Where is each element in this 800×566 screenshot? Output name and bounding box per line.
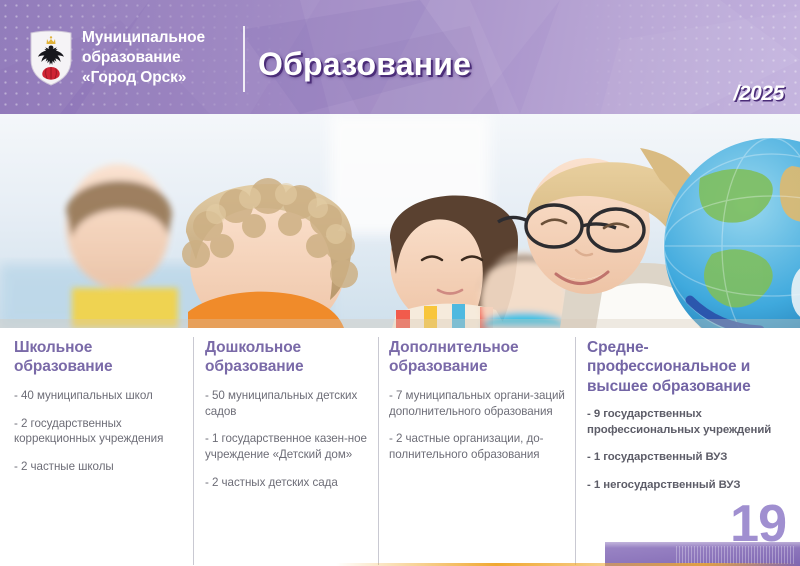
column-heading: Дошкольное образование [205, 338, 368, 377]
column-item: - 2 частные школы [14, 459, 184, 475]
column-item: - 50 муниципальных детских садов [205, 388, 368, 420]
column-item: - 2 частных детских сада [205, 475, 368, 491]
column-item: - 7 муниципальных органи-заций дополните… [389, 388, 565, 420]
column-item: - 1 негосударственный ВУЗ [587, 478, 787, 494]
content-area: Школьное образование - 40 муниципальных … [0, 328, 800, 566]
column-item: - 2 государственных коррекционных учрежд… [14, 416, 184, 448]
column-vocational-higher-education: Средне-профессиональное и высшее образов… [587, 338, 787, 505]
column-heading: Школьное образование [14, 338, 184, 377]
organization-name-line-3: «Город Орск» [82, 68, 234, 88]
organization-name: Муниципальное образование «Город Орск» [82, 28, 234, 87]
year-label: /2025 [733, 82, 784, 106]
column-item: - 2 частные организации, до-полнительног… [389, 431, 565, 463]
column-item: - 9 государственных профессиональных учр… [587, 407, 787, 438]
column-heading: Средне-профессиональное и высшее образов… [587, 338, 787, 396]
organization-name-line-1: Муниципальное [82, 28, 234, 48]
column-divider-1 [193, 337, 194, 565]
column-preschool-education: Дошкольное образование - 50 муниципальны… [205, 338, 368, 503]
column-school-education: Школьное образование - 40 муниципальных … [14, 338, 184, 487]
footer-accent-bar-stripes [676, 546, 794, 564]
column-item: - 1 государственное казен-ное учреждение… [205, 431, 368, 463]
column-item: - 40 муниципальных школ [14, 388, 184, 404]
header-vertical-divider [243, 26, 245, 92]
column-heading: Дополнительное образование [389, 338, 565, 377]
organization-name-line-2: образование [82, 48, 234, 68]
column-item: - 1 государственный ВУЗ [587, 450, 787, 466]
column-divider-2 [378, 337, 379, 565]
column-supplementary-education: Дополнительное образование - 7 муниципал… [389, 338, 565, 475]
column-divider-3 [575, 337, 576, 565]
classroom-photo [0, 114, 800, 328]
orsk-coat-of-arms-icon [28, 30, 74, 86]
slide-root: Муниципальное образование «Город Орск» О… [0, 0, 800, 566]
slide-header: Муниципальное образование «Город Орск» О… [0, 0, 800, 114]
classroom-photo-illustration [0, 114, 800, 328]
page-title: Образование [258, 46, 471, 83]
